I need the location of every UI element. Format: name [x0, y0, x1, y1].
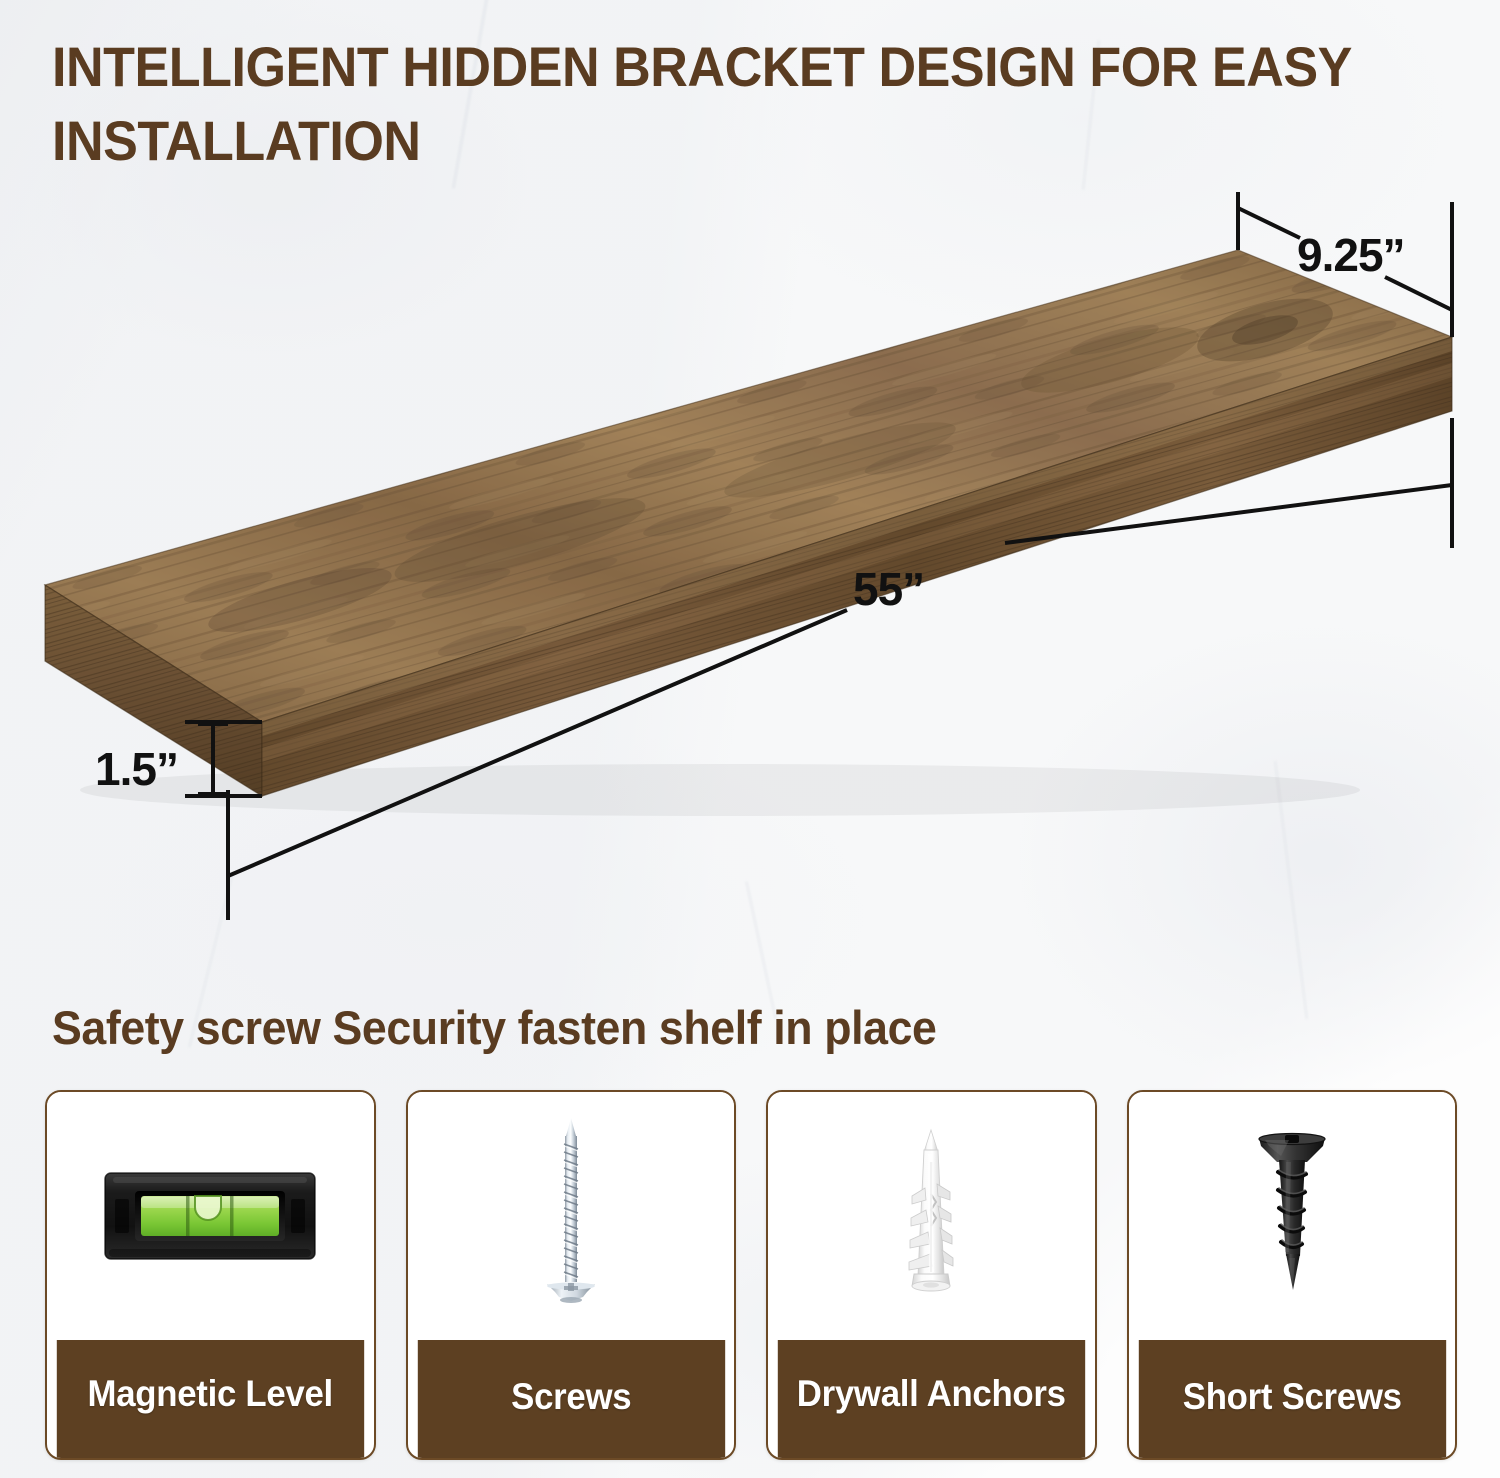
- hardware-card-short-screws[interactable]: Short Screws: [1127, 1090, 1458, 1460]
- card-label-screws: Screws: [417, 1340, 724, 1458]
- hardware-card-screws[interactable]: Screws: [406, 1090, 737, 1460]
- hardware-card-drywall-anchors[interactable]: Drywall Anchors: [766, 1090, 1097, 1460]
- bubble-level-icon: [103, 1169, 317, 1263]
- dimension-label-thickness: 1.5”: [95, 742, 178, 796]
- long-screw-icon: [539, 1116, 603, 1316]
- card-art: [1129, 1092, 1456, 1340]
- card-label-magnetic-level: Magnetic Level: [57, 1340, 364, 1458]
- dimension-label-depth: 9.25”: [1297, 228, 1405, 282]
- card-label-short-screws: Short Screws: [1138, 1340, 1445, 1458]
- card-label-drywall-anchors: Drywall Anchors: [778, 1340, 1085, 1458]
- drywall-anchor-icon: [888, 1126, 974, 1306]
- dimension-label-length: 55”: [853, 562, 924, 616]
- hardware-card-list: Magnetic Level: [45, 1090, 1457, 1460]
- hardware-card-magnetic-level[interactable]: Magnetic Level: [45, 1090, 376, 1460]
- depth-leader-left: [1238, 208, 1300, 238]
- card-art: [47, 1092, 374, 1340]
- card-art: [768, 1092, 1095, 1340]
- shelf-illustration: [0, 0, 1500, 1000]
- short-black-screw-icon: [1245, 1128, 1339, 1304]
- section-title-safety: Safety screw Security fasten shelf in pl…: [52, 1000, 1382, 1055]
- product-infographic: INTELLIGENT HIDDEN BRACKET DESIGN FOR EA…: [0, 0, 1500, 1478]
- card-art: [408, 1092, 735, 1340]
